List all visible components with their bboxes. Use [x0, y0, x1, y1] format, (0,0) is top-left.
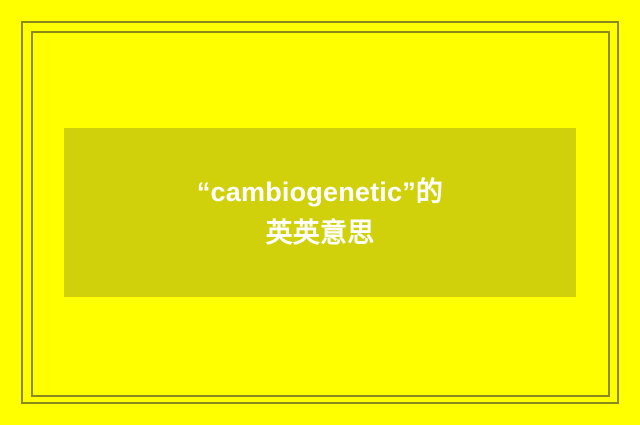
- title-panel: “cambiogenetic”的英英意思: [64, 128, 576, 297]
- page-title: “cambiogenetic”的英英意思: [190, 172, 450, 253]
- poster-canvas: “cambiogenetic”的英英意思: [0, 0, 640, 425]
